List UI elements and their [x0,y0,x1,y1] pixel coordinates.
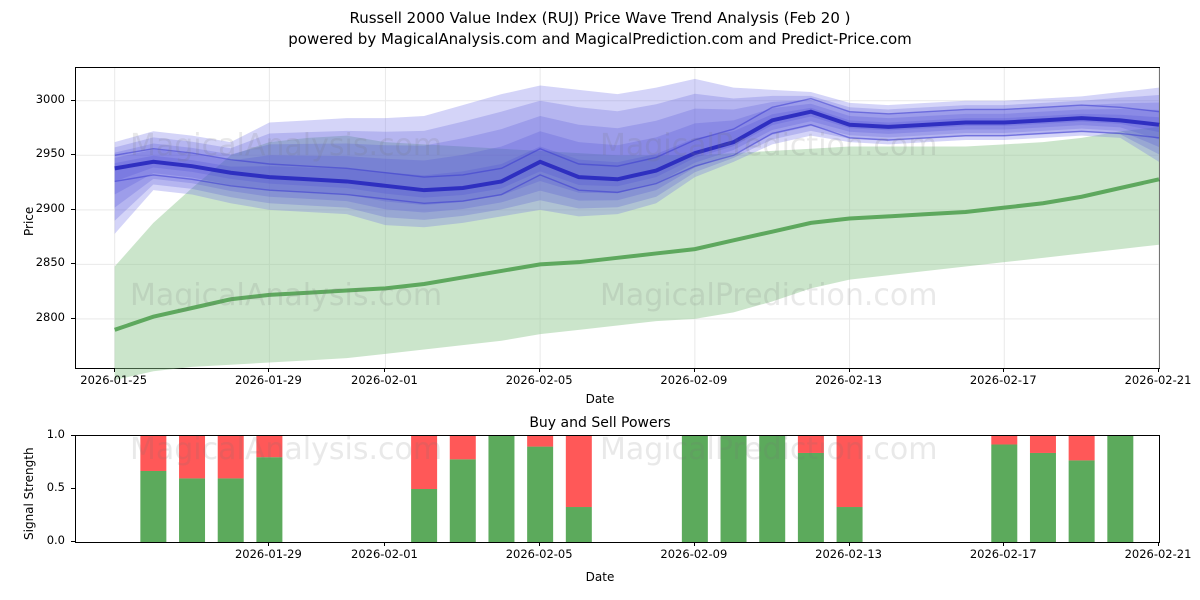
price-y-axis-label: Price [22,207,36,236]
signal-x-tick: 2026-01-29 [213,547,323,561]
signal-x-tick: 2026-02-17 [948,547,1058,561]
signal-x-axis-label: Date [0,570,1200,584]
price-x-tick: 2026-01-29 [213,373,323,387]
signal-x-tickmark [1003,542,1004,546]
price-x-tickmark [539,368,540,372]
price-y-tickmark [71,209,75,210]
title-block: Russell 2000 Value Index (RUJ) Price Wav… [0,8,1200,50]
watermark-prediction-3: MagicalPrediction.com [600,432,938,467]
price-y-tickmark [71,263,75,264]
signal-x-tickmark [268,542,269,546]
signal-x-tick: 2026-02-05 [484,547,594,561]
price-x-tick: 2026-01-25 [59,373,169,387]
signal-y-tick: 1.0 [5,427,65,441]
watermark-prediction-1: MagicalPrediction.com [600,128,938,163]
signal-chart-title: Buy and Sell Powers [0,415,1200,431]
price-x-tickmark [268,368,269,372]
price-y-tickmark [71,154,75,155]
signal-y-tickmark [71,435,75,436]
price-x-tickmark [849,368,850,372]
watermark-analysis-2: MagicalAnalysis.com [130,278,442,313]
price-x-tickmark [694,368,695,372]
signal-x-tickmark [694,542,695,546]
chart-title: Russell 2000 Value Index (RUJ) Price Wav… [0,8,1200,29]
signal-y-tickmark [71,541,75,542]
watermark-prediction-2: MagicalPrediction.com [600,278,938,313]
price-y-tick: 2800 [5,310,65,324]
price-x-tick: 2026-02-09 [639,373,749,387]
price-x-tick: 2026-02-17 [948,373,1058,387]
chart-page: Russell 2000 Value Index (RUJ) Price Wav… [0,0,1200,600]
price-x-tick: 2026-02-21 [1103,373,1200,387]
price-x-tickmark [384,368,385,372]
price-y-tick: 3000 [5,92,65,106]
price-x-tick: 2026-02-13 [794,373,904,387]
signal-x-tick: 2026-02-09 [639,547,749,561]
price-y-tick: 2950 [5,146,65,160]
signal-x-tickmark [539,542,540,546]
price-chart-plot [76,68,1159,368]
price-x-tickmark [1158,368,1159,372]
price-y-tickmark [71,318,75,319]
signal-y-axis-label: Signal Strength [22,447,36,540]
price-x-tickmark [1003,368,1004,372]
signal-x-tickmark [849,542,850,546]
price-x-tick: 2026-02-01 [329,373,439,387]
signal-x-tick: 2026-02-21 [1103,547,1200,561]
signal-y-tickmark [71,488,75,489]
watermark-analysis-3: MagicalAnalysis.com [130,432,442,467]
price-x-tick: 2026-02-05 [484,373,594,387]
price-x-axis-label: Date [0,392,1200,406]
price-y-tickmark [71,100,75,101]
signal-x-tickmark [384,542,385,546]
price-chart-panel [75,67,1160,369]
chart-subtitle: powered by MagicalAnalysis.com and Magic… [0,29,1200,50]
signal-x-tickmark [1158,542,1159,546]
price-x-tickmark [114,368,115,372]
signal-x-tick: 2026-02-13 [794,547,904,561]
signal-x-tick: 2026-02-01 [329,547,439,561]
price-y-tick: 2850 [5,255,65,269]
watermark-analysis-1: MagicalAnalysis.com [130,128,442,163]
